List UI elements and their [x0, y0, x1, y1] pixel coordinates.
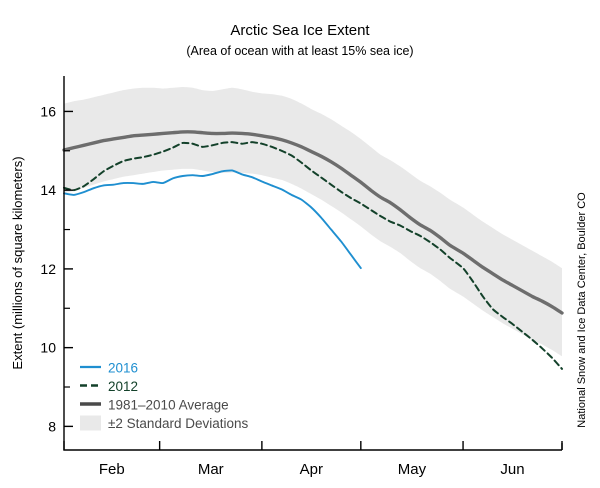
- legend-label: 2012: [108, 379, 138, 394]
- legend-swatch-band: [80, 416, 101, 431]
- y-tick-label: 8: [48, 418, 56, 434]
- chart-title: Arctic Sea Ice Extent: [230, 22, 370, 39]
- x-axis-month-label: May: [398, 461, 427, 478]
- arctic-sea-ice-chart: Arctic Sea Ice Extent (Area of ocean wit…: [0, 0, 600, 488]
- x-axis-month-label: Feb: [99, 461, 125, 478]
- y-tick-label: 16: [40, 103, 56, 119]
- y-tick-label: 12: [40, 261, 56, 277]
- chart-canvas: Arctic Sea Ice Extent (Area of ocean wit…: [0, 0, 600, 488]
- y-tick-label: 14: [40, 182, 56, 198]
- legend-label: 1981–2010 Average: [108, 398, 229, 413]
- y-tick-label: 10: [40, 340, 56, 356]
- data-source-credit: National Snow and Ice Data Center, Bould…: [576, 192, 588, 428]
- legend-label: 2016: [108, 361, 138, 376]
- x-axis-month-label: Jun: [500, 461, 524, 478]
- legend-label: ±2 Standard Deviations: [108, 416, 248, 431]
- y-axis-label: Extent (millions of square kilometers): [10, 156, 25, 369]
- x-axis-month-label: Mar: [198, 461, 224, 478]
- x-axis-month-label: Apr: [300, 461, 323, 478]
- chart-subtitle: (Area of ocean with at least 15% sea ice…: [186, 44, 413, 58]
